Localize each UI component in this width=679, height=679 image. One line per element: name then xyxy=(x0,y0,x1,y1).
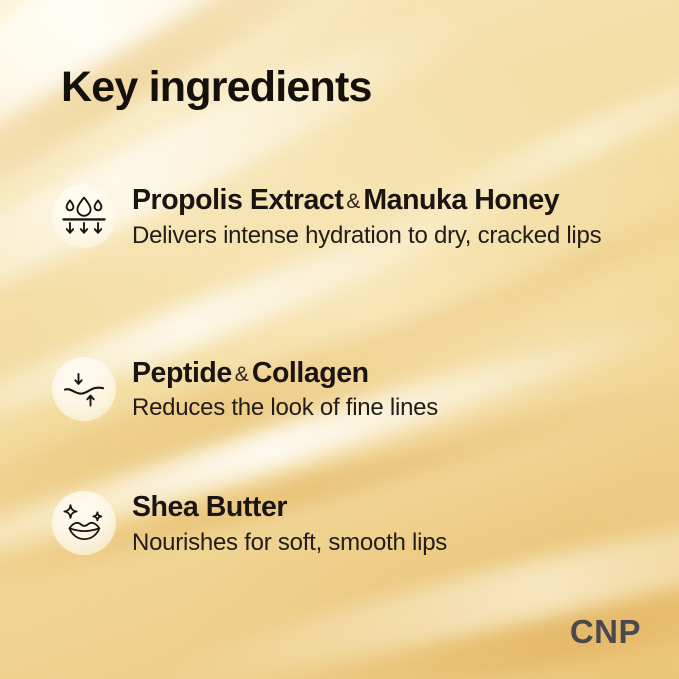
water-drops-absorb-icon xyxy=(52,184,116,248)
ingredient-item: Propolis Extract&Manuka Honey Delivers i… xyxy=(52,182,659,251)
ingredient-name-secondary: Collagen xyxy=(252,357,369,389)
ingredient-text: Shea Butter Nourishes for soft, smooth l… xyxy=(132,489,447,558)
ingredient-item: Shea Butter Nourishes for soft, smooth l… xyxy=(52,489,659,558)
wavy-line-smoothing-icon xyxy=(52,357,116,421)
ingredient-text: Propolis Extract&Manuka Honey Delivers i… xyxy=(132,182,601,251)
ingredient-description: Reduces the look of fine lines xyxy=(132,393,438,423)
ingredient-heading: Shea Butter xyxy=(132,491,447,525)
ingredient-item: Peptide&Collagen Reduces the look of fin… xyxy=(52,355,659,424)
ingredient-name-primary: Peptide xyxy=(132,357,232,389)
sparkling-lips-icon xyxy=(52,491,116,555)
ingredient-name-secondary: Manuka Honey xyxy=(363,184,559,216)
ingredient-name-primary: Shea Butter xyxy=(132,491,287,523)
ingredient-separator: & xyxy=(343,190,363,213)
ingredient-separator xyxy=(287,497,293,520)
ingredient-heading: Peptide&Collagen xyxy=(132,357,438,391)
page-title: Key ingredients xyxy=(61,63,372,111)
ingredient-heading: Propolis Extract&Manuka Honey xyxy=(132,184,601,218)
ingredient-description: Nourishes for soft, smooth lips xyxy=(132,528,447,558)
ingredient-text: Peptide&Collagen Reduces the look of fin… xyxy=(132,355,438,424)
ingredient-name-primary: Propolis Extract xyxy=(132,184,343,216)
key-ingredients-poster: Key ingredients xyxy=(0,0,679,679)
ingredient-list: Propolis Extract&Manuka Honey Delivers i… xyxy=(52,182,659,558)
poster-content: Key ingredients xyxy=(0,0,679,679)
ingredient-description: Delivers intense hydration to dry, crack… xyxy=(132,221,601,251)
ingredient-separator: & xyxy=(232,363,252,386)
brand-logo: CNP xyxy=(570,613,641,651)
